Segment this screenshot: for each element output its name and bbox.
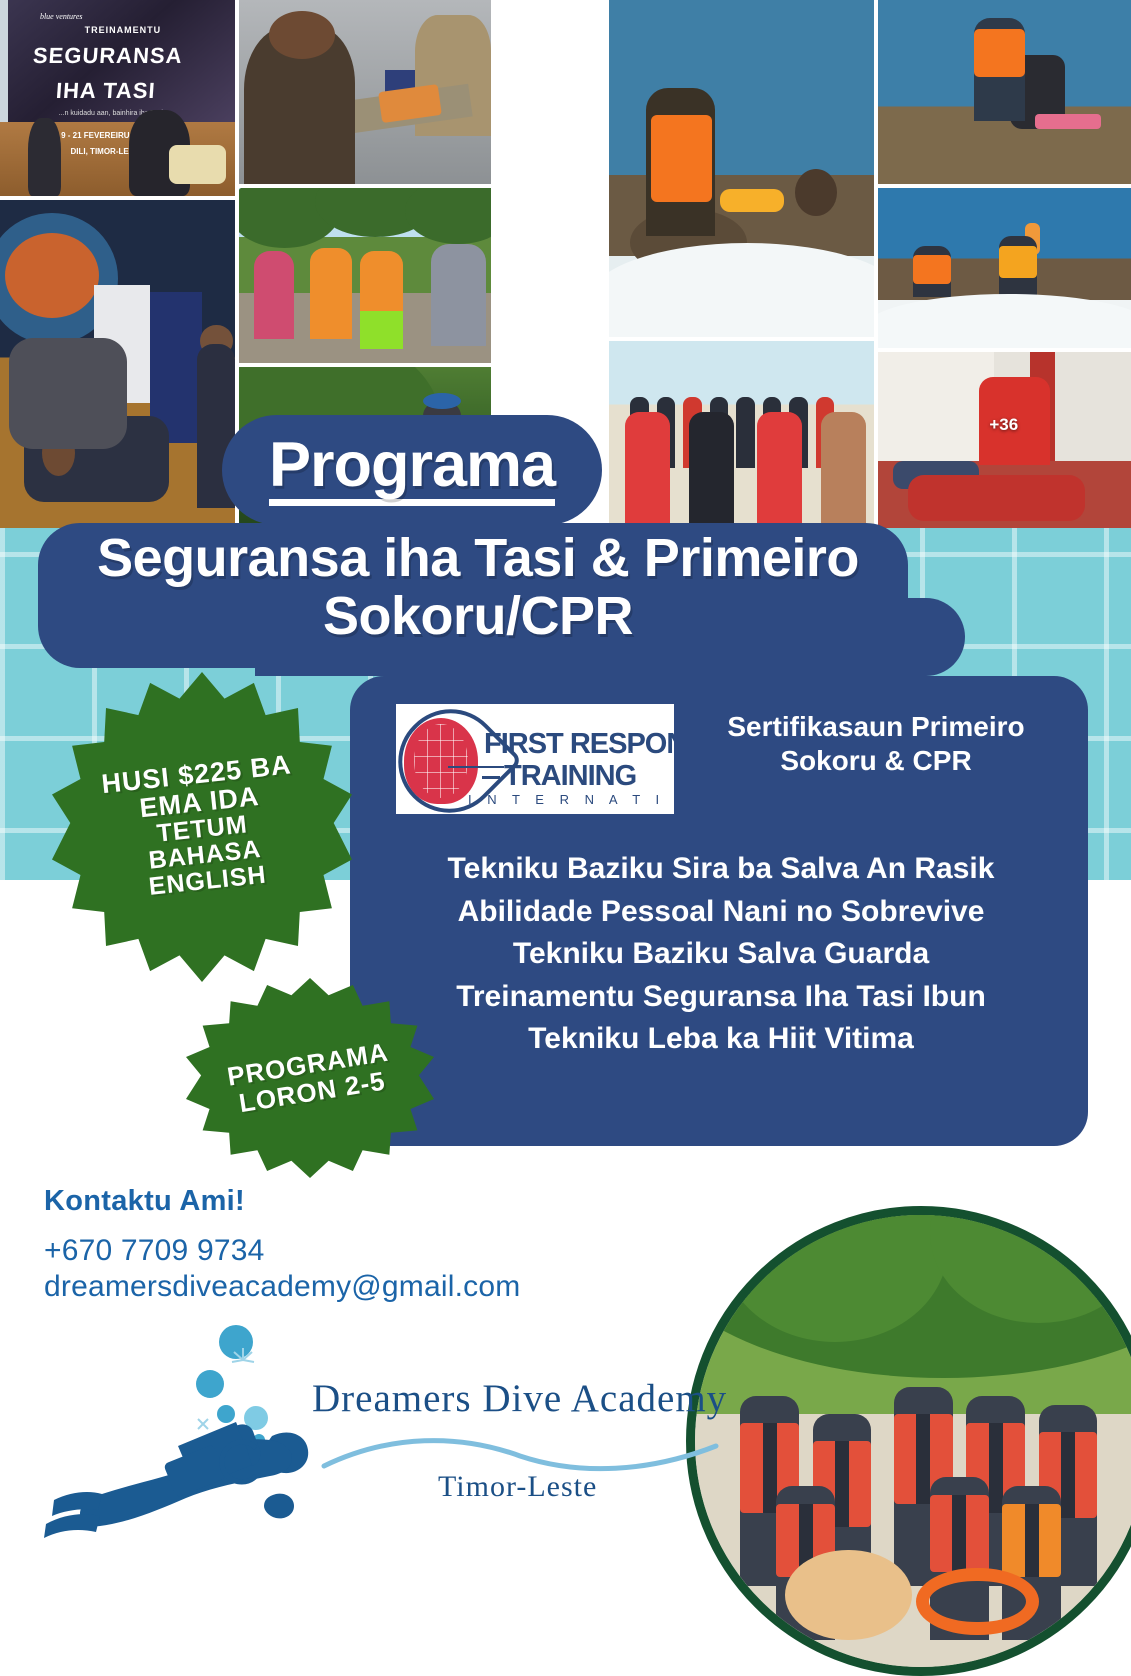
brand-location: Timor-Leste — [438, 1470, 597, 1504]
title-line-2: Sokoru/CPR — [38, 588, 918, 646]
header-title-text: Programa — [269, 434, 555, 506]
photo-line-iha-tasi: IHA TASI — [55, 78, 156, 104]
curriculum-item: Tekniku Leba ka Hiit Vitima — [368, 1018, 1074, 1061]
photo-line-treinamentu: TREINAMENTU — [85, 25, 162, 35]
certification-heading: Sertifikasaun Primeiro Sokoru & CPR — [686, 710, 1066, 778]
contact-heading: Kontaktu Ami! — [44, 1185, 604, 1218]
content-panel-contents: FIRST RESPONSE TRAINING I N T E R N A T … — [350, 676, 1088, 1146]
photo-surf-rescue-tube — [609, 0, 874, 337]
life-ring-icon — [916, 1568, 1038, 1636]
ecg-line-icon — [448, 766, 504, 768]
curriculum-item: Tekniku Baziku Salva Guarda — [368, 933, 1074, 976]
photo-group-lifejackets — [686, 1206, 1131, 1676]
photo-dates: 9 - 21 FEVEREIRU — [61, 131, 129, 140]
logo-text-first-response: FIRST RESPONSE — [484, 728, 674, 761]
photo-brand-blue-ventures: blue ventures — [40, 12, 83, 21]
title-line-1: Seguransa iha Tasi & Primeiro — [97, 528, 859, 588]
scuba-diver-icon — [40, 1318, 310, 1548]
photo-shallow-water-carry — [878, 0, 1131, 184]
contact-block: Kontaktu Ami! +670 7709 9734 dreamersdiv… — [44, 1185, 604, 1304]
brand-name: Dreamers Dive Academy — [312, 1376, 727, 1421]
photo-beach-briefing — [609, 341, 874, 528]
contact-email[interactable]: dreamersdiveacademy@gmail.com — [44, 1270, 604, 1304]
curriculum-item: Abilidade Pessoal Nani no Sobrevive — [368, 891, 1074, 934]
photo-recovery-position — [0, 200, 235, 528]
photo-lifejacket-fitting — [239, 188, 491, 363]
dreamers-dive-academy-logo: Dreamers Dive Academy Timor-Leste — [40, 1318, 700, 1558]
contact-phone[interactable]: +670 7709 9734 — [44, 1234, 604, 1268]
first-response-training-logo: FIRST RESPONSE TRAINING I N T E R N A T … — [396, 704, 674, 814]
photo-surf-rescue-pair — [878, 188, 1131, 348]
header-bubble-programa: Programa — [222, 415, 602, 525]
logo-text-international: I N T E R N A T I O N A L — [468, 792, 674, 807]
curriculum-list: Tekniku Baziku Sira ba Salva An Rasik Ab… — [368, 848, 1074, 1061]
photo-indoor-cpr-demo: +36 — [878, 352, 1131, 528]
logo-text-training: TRAINING — [504, 760, 636, 793]
photo-cpr-presentation: blue ventures TREINAMENTU SEGURANSA IHA … — [0, 0, 235, 196]
photo-count-badge: +36 — [989, 415, 1018, 435]
photo-line-seguransa: SEGURANSA — [32, 43, 183, 69]
curriculum-item: Treinamentu Seguransa Iha Tasi Ibun — [368, 976, 1074, 1019]
globe-icon — [404, 718, 478, 804]
photo-leg-bandaging — [239, 0, 491, 184]
curriculum-item: Tekniku Baziku Sira ba Salva An Rasik — [368, 848, 1074, 891]
poster-title: Seguransa iha Tasi & Primeiro Sokoru/CPR — [38, 530, 918, 646]
